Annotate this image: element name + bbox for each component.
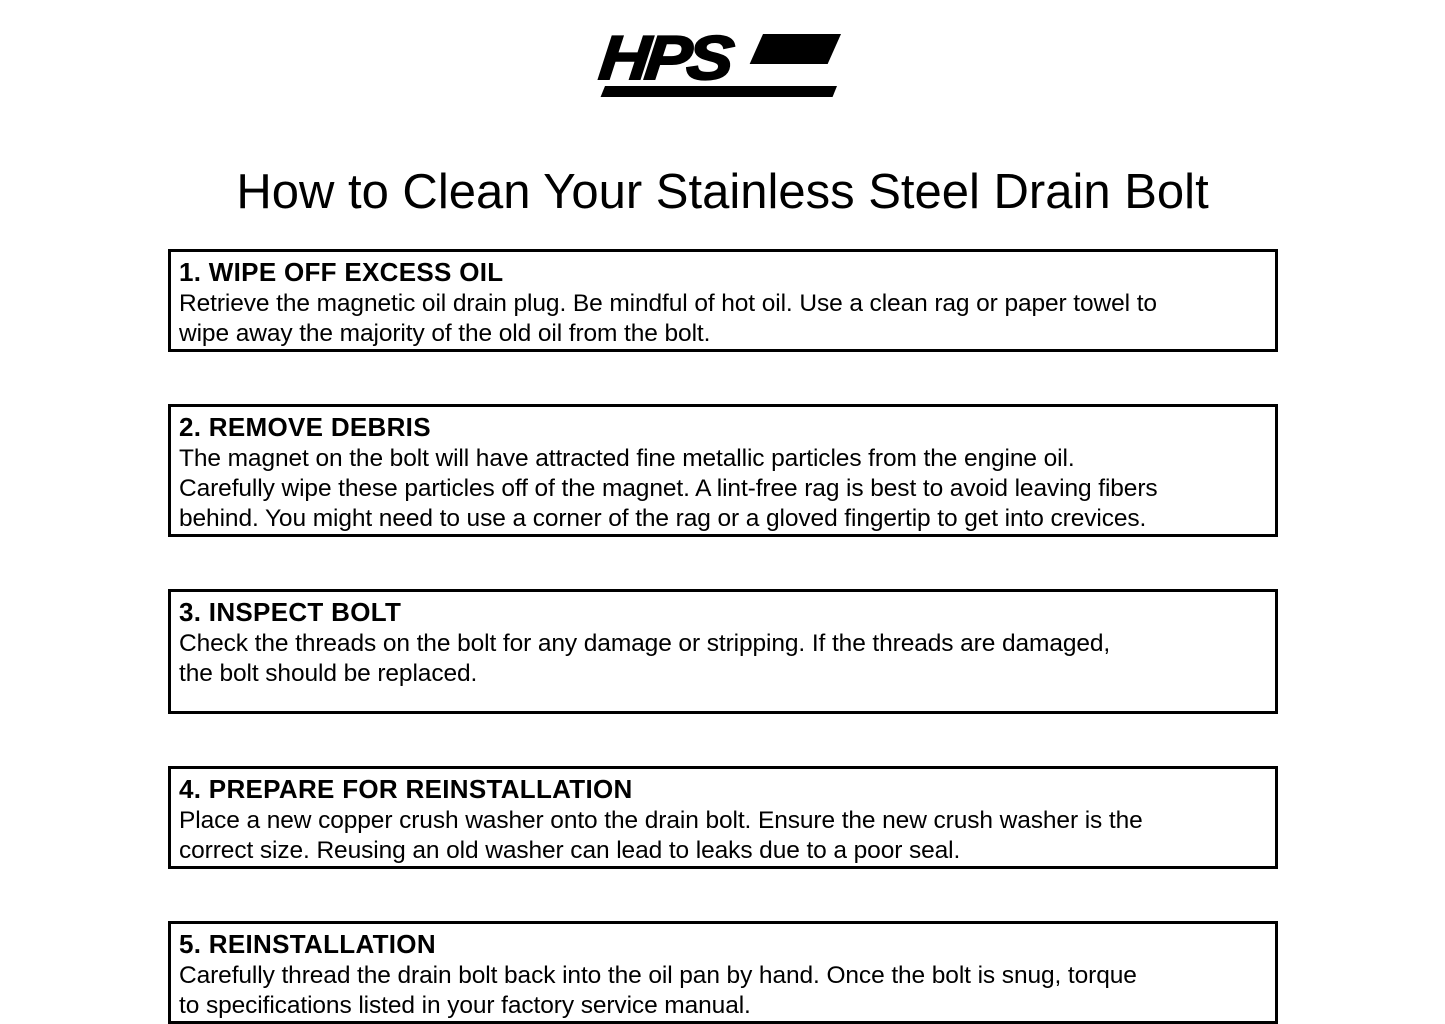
steps-list: 1. WIPE OFF EXCESS OIL Retrieve the magn… xyxy=(168,249,1278,1024)
step-body-2: The magnet on the bolt will have attract… xyxy=(179,444,1267,534)
step-heading-5: 5. REINSTALLATION xyxy=(179,928,1267,960)
hps-logo-text: HPS xyxy=(596,28,732,90)
step-box-2: 2. REMOVE DEBRIS The magnet on the bolt … xyxy=(168,404,1278,537)
hps-logo: HPS xyxy=(603,28,843,100)
step-body-5: Carefully thread the drain bolt back int… xyxy=(179,961,1267,1021)
step-box-5: 5. REINSTALLATION Carefully thread the d… xyxy=(168,921,1278,1024)
step-heading-3: 3. INSPECT BOLT xyxy=(179,596,1267,628)
brand-logo-container: HPS xyxy=(0,28,1445,108)
step-box-1: 1. WIPE OFF EXCESS OIL Retrieve the magn… xyxy=(168,249,1278,352)
step-body-4: Place a new copper crush washer onto the… xyxy=(179,806,1267,866)
step-heading-1: 1. WIPE OFF EXCESS OIL xyxy=(179,256,1267,288)
step-heading-2: 2. REMOVE DEBRIS xyxy=(179,411,1267,443)
page-title: How to Clean Your Stainless Steel Drain … xyxy=(0,159,1445,225)
step-box-4: 4. PREPARE FOR REINSTALLATION Place a ne… xyxy=(168,766,1278,869)
step-body-3: Check the threads on the bolt for any da… xyxy=(179,629,1267,689)
step-heading-4: 4. PREPARE FOR REINSTALLATION xyxy=(179,773,1267,805)
step-box-3: 3. INSPECT BOLT Check the threads on the… xyxy=(168,589,1278,714)
step-body-1: Retrieve the magnetic oil drain plug. Be… xyxy=(179,289,1267,349)
hps-logo-underline-bar-icon xyxy=(600,86,836,97)
hps-logo-swoosh-icon xyxy=(749,34,840,64)
